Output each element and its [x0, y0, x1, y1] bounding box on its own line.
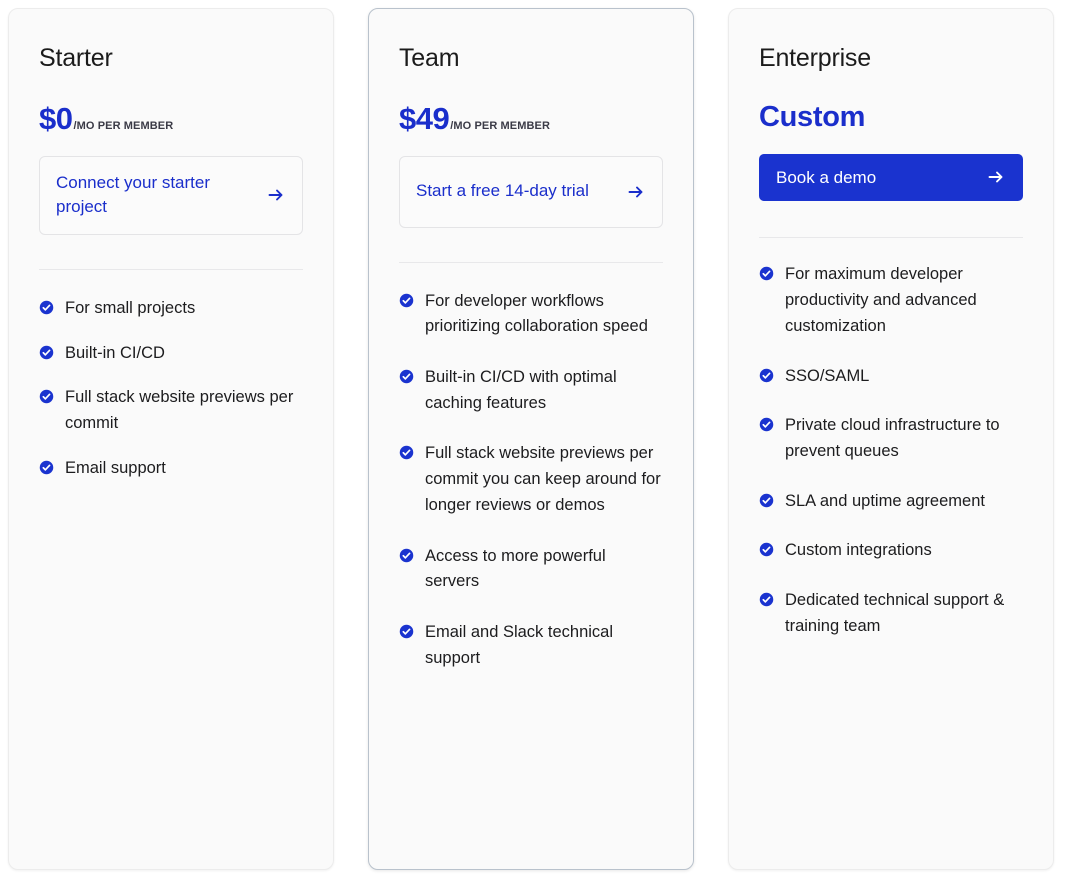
- check-circle-icon: [399, 548, 414, 563]
- price-amount: Custom: [759, 103, 1023, 132]
- list-item: Full stack website previews per commit y…: [399, 441, 663, 518]
- pricing-plans-grid: Starter $0 /MO PER MEMBER Connect your s…: [0, 0, 1070, 870]
- start-free-trial-button[interactable]: Start a free 14-day trial: [399, 156, 663, 228]
- list-item: Email and Slack technical support: [399, 620, 663, 671]
- feature-text: Dedicated technical support & training t…: [785, 588, 1023, 639]
- cta-label: Start a free 14-day trial: [416, 179, 589, 204]
- list-item: Access to more powerful servers: [399, 544, 663, 595]
- list-item: For small projects: [39, 296, 303, 322]
- cta-label: Connect your starter project: [56, 171, 254, 220]
- arrow-right-icon: [626, 182, 646, 202]
- list-item: Dedicated technical support & training t…: [759, 588, 1023, 639]
- list-item: For maximum developer productivity and a…: [759, 262, 1023, 339]
- check-circle-icon: [759, 493, 774, 508]
- check-circle-icon: [39, 460, 54, 475]
- divider: [39, 269, 303, 270]
- feature-text: Custom integrations: [785, 538, 932, 564]
- list-item: Built-in CI/CD with optimal caching feat…: [399, 365, 663, 416]
- price-unit: /MO PER MEMBER: [450, 120, 550, 132]
- plan-card-team: Team $49 /MO PER MEMBER Start a free 14-…: [368, 8, 694, 870]
- check-circle-icon: [399, 293, 414, 308]
- list-item: SSO/SAML: [759, 364, 1023, 390]
- divider: [399, 262, 663, 263]
- arrow-right-icon: [986, 167, 1006, 187]
- feature-list: For small projects Built-in CI/CD: [39, 296, 303, 482]
- plan-title: Enterprise: [759, 45, 1023, 73]
- feature-list: For developer workflows prioritizing col…: [399, 289, 663, 672]
- plan-title: Team: [399, 45, 663, 73]
- plan-card-enterprise: Enterprise Custom Book a demo For maximu…: [728, 8, 1054, 870]
- connect-your-starter-project-button[interactable]: Connect your starter project: [39, 156, 303, 235]
- feature-text: Built-in CI/CD with optimal caching feat…: [425, 365, 663, 416]
- check-circle-icon: [39, 345, 54, 360]
- divider: [759, 237, 1023, 238]
- check-circle-icon: [399, 445, 414, 460]
- plan-card-starter: Starter $0 /MO PER MEMBER Connect your s…: [8, 8, 334, 870]
- feature-text: For developer workflows prioritizing col…: [425, 289, 663, 340]
- plan-title: Starter: [39, 45, 303, 73]
- list-item: Custom integrations: [759, 538, 1023, 564]
- feature-text: Built-in CI/CD: [65, 341, 165, 367]
- price-unit: /MO PER MEMBER: [73, 120, 173, 132]
- feature-list: For maximum developer productivity and a…: [759, 262, 1023, 639]
- list-item: SLA and uptime agreement: [759, 489, 1023, 515]
- feature-text: Private cloud infrastructure to prevent …: [785, 413, 1023, 464]
- feature-text: Full stack website previews per commit y…: [425, 441, 663, 518]
- feature-text: SSO/SAML: [785, 364, 869, 390]
- feature-text: Full stack website previews per commit: [65, 385, 303, 436]
- check-circle-icon: [759, 592, 774, 607]
- list-item: Built-in CI/CD: [39, 341, 303, 367]
- check-circle-icon: [759, 368, 774, 383]
- cta-label: Book a demo: [776, 166, 876, 190]
- feature-text: Email support: [65, 456, 166, 482]
- feature-text: For maximum developer productivity and a…: [785, 262, 1023, 339]
- book-a-demo-button[interactable]: Book a demo: [759, 154, 1023, 202]
- list-item: For developer workflows prioritizing col…: [399, 289, 663, 340]
- price-amount: $0: [39, 103, 72, 134]
- arrow-right-icon: [266, 185, 286, 205]
- feature-text: Access to more powerful servers: [425, 544, 663, 595]
- list-item: Full stack website previews per commit: [39, 385, 303, 436]
- check-circle-icon: [759, 266, 774, 281]
- list-item: Email support: [39, 456, 303, 482]
- list-item: Private cloud infrastructure to prevent …: [759, 413, 1023, 464]
- feature-text: Email and Slack technical support: [425, 620, 663, 671]
- plan-price: $49 /MO PER MEMBER: [399, 103, 663, 134]
- check-circle-icon: [399, 369, 414, 384]
- check-circle-icon: [759, 417, 774, 432]
- feature-text: For small projects: [65, 296, 195, 322]
- feature-text: SLA and uptime agreement: [785, 489, 985, 515]
- plan-price: $0 /MO PER MEMBER: [39, 103, 303, 134]
- check-circle-icon: [39, 389, 54, 404]
- check-circle-icon: [39, 300, 54, 315]
- price-amount: $49: [399, 103, 449, 134]
- check-circle-icon: [399, 624, 414, 639]
- check-circle-icon: [759, 542, 774, 557]
